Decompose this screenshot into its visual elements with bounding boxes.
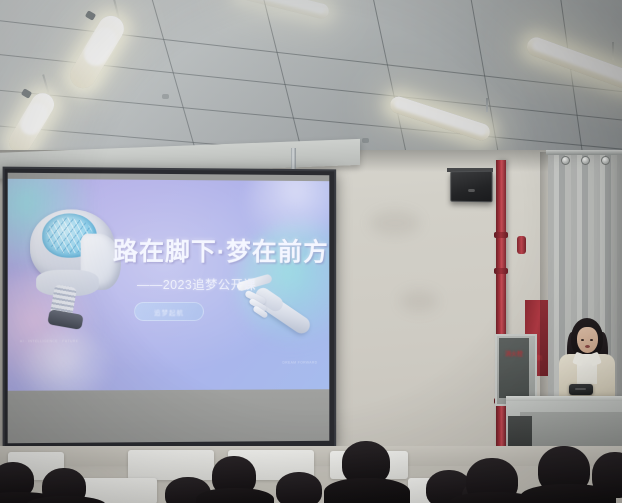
ceiling-sensor — [362, 138, 369, 143]
pipe-band — [494, 268, 508, 274]
screen-unlit-area — [8, 389, 330, 443]
curtain-grommet — [601, 156, 610, 165]
audience-head — [592, 452, 622, 498]
audience-chair — [128, 450, 214, 480]
curtain-grommet — [561, 156, 570, 165]
audience-head — [276, 472, 322, 503]
audience-shoulders — [196, 488, 274, 503]
presenter-face — [577, 327, 598, 353]
light-hanger-rod — [486, 98, 488, 112]
light-hanger-rod — [612, 42, 614, 60]
slide-cta-label: 追梦起航 — [154, 306, 184, 316]
slide-title: 路在脚下·梦在前方 — [113, 240, 329, 266]
fire-standpipe — [496, 160, 506, 450]
fire-cabinet-glass — [499, 338, 529, 398]
pipe-band — [494, 232, 508, 238]
podium-top-edge — [506, 396, 622, 401]
ceiling-sensor — [162, 94, 169, 99]
podium-microphone-console — [569, 384, 593, 395]
slide-decor-text-left: AI · INTELLIGENCE · FUTURE — [20, 338, 79, 345]
lecture-hall-photo: AI · INTELLIGENCE · FUTURE DREAM FORWARD… — [0, 0, 622, 503]
presenter — [555, 318, 617, 404]
wall-speaker — [450, 171, 492, 203]
wall-stain — [370, 210, 420, 236]
audience-shoulders — [324, 478, 410, 503]
curtain-rod — [546, 150, 622, 155]
projection-screen: AI · INTELLIGENCE · FUTURE DREAM FORWARD… — [3, 167, 337, 452]
curtain-grommet — [581, 156, 590, 165]
slide-decor-text-right: DREAM FORWARD — [282, 360, 317, 367]
presentation-slide: AI · INTELLIGENCE · FUTURE DREAM FORWARD… — [8, 179, 330, 391]
robot-head-icon — [22, 207, 127, 328]
projection-screen-surface: AI · INTELLIGENCE · FUTURE DREAM FORWARD… — [8, 173, 330, 444]
fire-cabinet-label: 消火栓 — [503, 352, 525, 360]
pipe-valve — [517, 236, 526, 254]
slide-subtitle: ——2023追梦公开课 — [137, 274, 256, 293]
slide-cta-button[interactable]: 追梦起航 — [134, 302, 204, 321]
wall-stain — [400, 290, 438, 312]
